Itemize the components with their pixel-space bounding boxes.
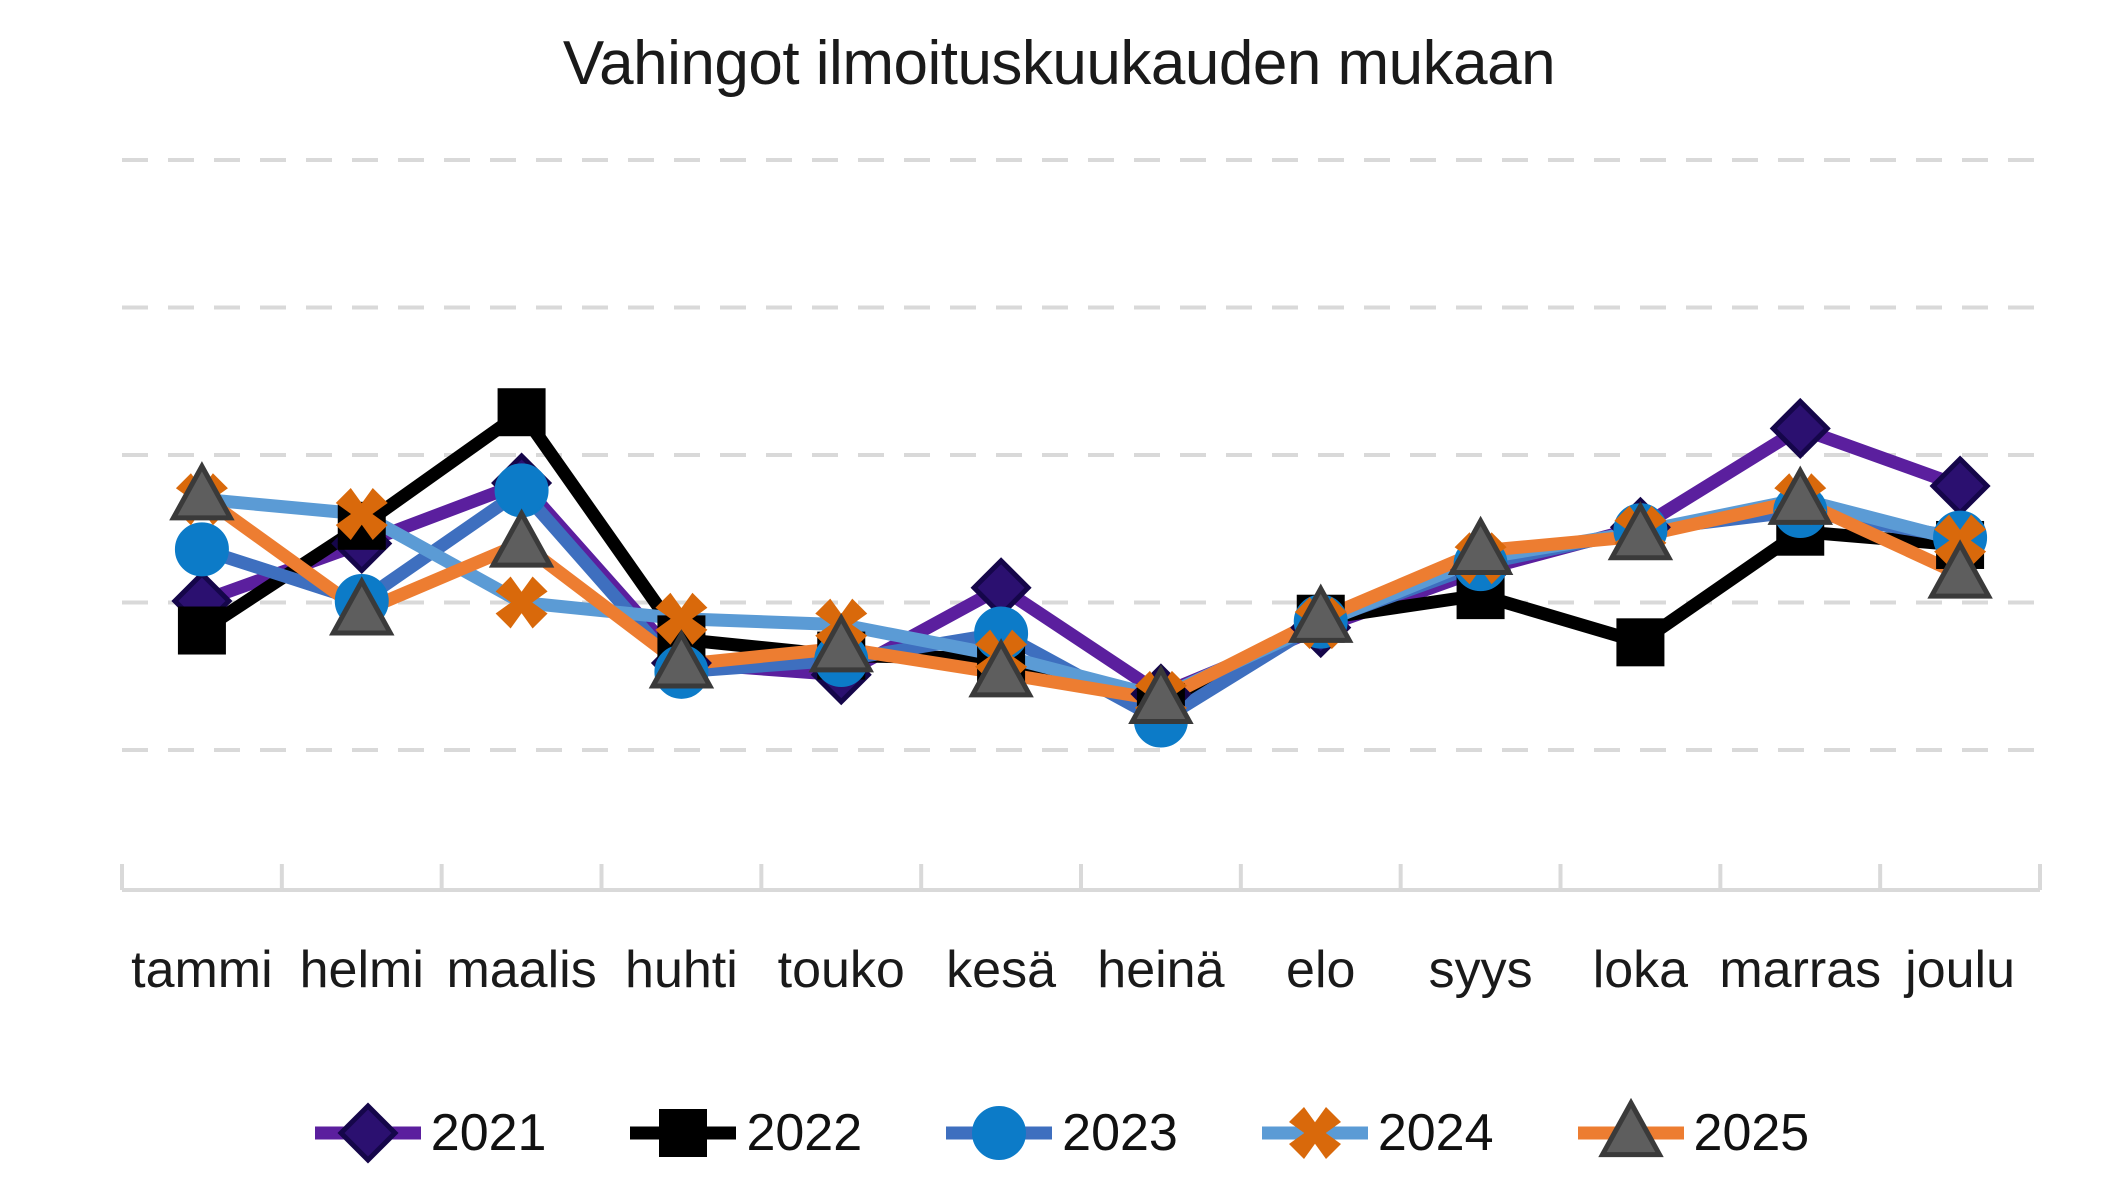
- x-tick-label-marras: marras: [1719, 940, 1881, 1000]
- x-tick-label-heinä: heinä: [1097, 940, 1224, 1000]
- x-tick-label-syys: syys: [1429, 940, 1533, 1000]
- chart-legend: 20212022202320242025: [0, 1098, 2118, 1168]
- legend-swatch-x-icon: [1256, 1098, 1374, 1168]
- legend-item-2022[interactable]: 2022: [624, 1098, 862, 1168]
- x-tick-label-touko: touko: [778, 940, 905, 1000]
- data-point-circle[interactable]: [176, 523, 228, 575]
- x-tick-label-joulu: joulu: [1905, 940, 2015, 1000]
- legend-label-2024: 2024: [1378, 1107, 1494, 1159]
- data-point-square[interactable]: [1617, 619, 1663, 665]
- legend-item-2023[interactable]: 2023: [940, 1098, 1178, 1168]
- x-tick-label-huhti: huhti: [625, 940, 738, 1000]
- legend-item-2024[interactable]: 2024: [1256, 1098, 1494, 1168]
- legend-swatch-triangle-icon: [1572, 1098, 1690, 1168]
- plot-area: [0, 0, 2118, 1193]
- data-point-square[interactable]: [179, 608, 225, 654]
- x-tick-label-kesä: kesä: [946, 940, 1056, 1000]
- legend-swatch-diamond-icon: [309, 1098, 427, 1168]
- legend-marker-circle-icon: [973, 1107, 1025, 1159]
- legend-item-2021[interactable]: 2021: [309, 1098, 547, 1168]
- legend-marker-square-icon: [660, 1110, 706, 1156]
- x-tick-label-tammi: tammi: [131, 940, 273, 1000]
- legend-swatch-circle-icon: [940, 1098, 1058, 1168]
- chart-container: Vahingot ilmoituskuukauden mukaan tammih…: [0, 0, 2118, 1193]
- legend-swatch-square-icon: [624, 1098, 742, 1168]
- data-point-diamond[interactable]: [1933, 459, 1987, 513]
- x-tick-label-elo: elo: [1286, 940, 1355, 1000]
- legend-marker-diamond-icon: [341, 1106, 395, 1160]
- x-axis: [122, 864, 2040, 890]
- x-tick-label-helmi: helmi: [300, 940, 424, 1000]
- x-tick-label-loka: loka: [1593, 940, 1688, 1000]
- legend-label-2023: 2023: [1062, 1107, 1178, 1159]
- x-tick-label-maalis: maalis: [446, 940, 596, 1000]
- legend-label-2022: 2022: [746, 1107, 862, 1159]
- legend-label-2025: 2025: [1694, 1107, 1810, 1159]
- legend-label-2021: 2021: [431, 1107, 547, 1159]
- data-point-square[interactable]: [499, 389, 545, 435]
- legend-item-2025[interactable]: 2025: [1572, 1098, 1810, 1168]
